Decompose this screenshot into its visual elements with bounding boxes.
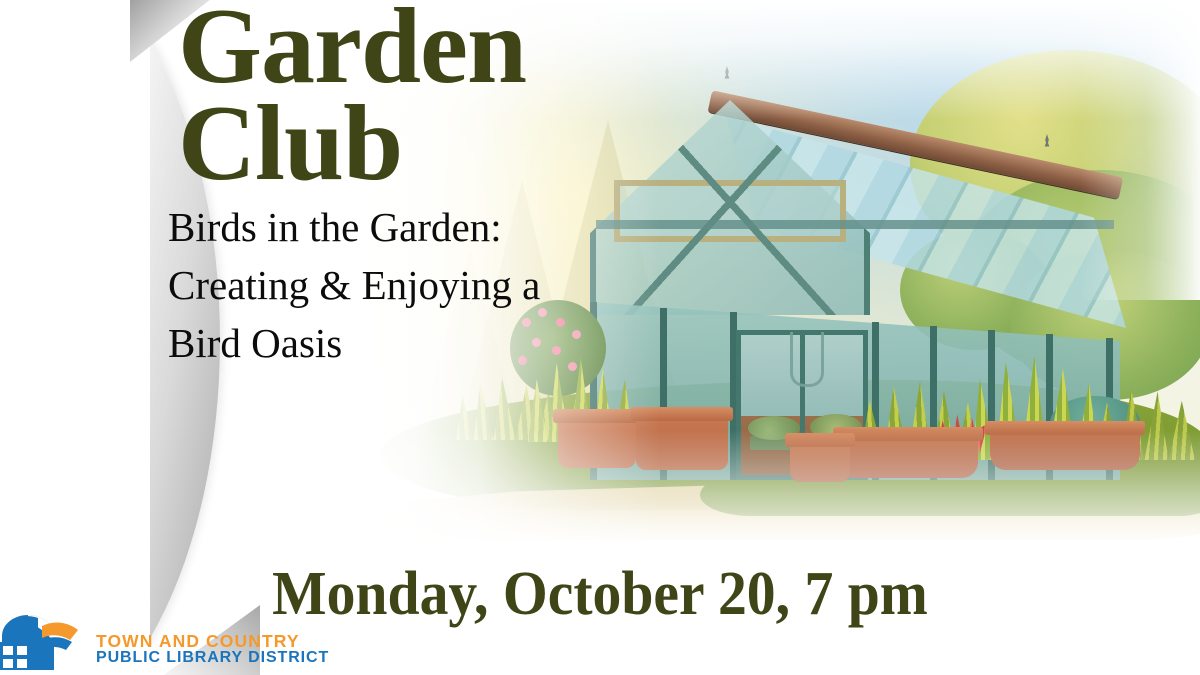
library-house-book-icon [0,612,94,672]
logo-line-1: TOWN AND COUNTRY [96,632,329,650]
greenhouse-shelf [596,220,1114,229]
subtitle-line-1: Birds in the Garden: [168,198,638,256]
logo-line-2: PUBLIC LIBRARY DISTRICT [96,650,329,667]
illustration-right-fade [1080,0,1200,300]
subtitle-line-3: Bird Oasis [168,314,638,372]
event-flyer: Garden Club Birds in the Garden: Creatin… [0,0,1200,675]
illustration-bottom-fade [360,430,1200,580]
page-title: Garden Club [178,0,526,195]
roof-finial-icon [1042,134,1052,160]
title-line-2: Club [178,93,526,196]
event-subtitle: Birds in the Garden: Creating & Enjoying… [168,198,638,373]
hanging-hose-icon [790,332,824,387]
logo-wordmark: TOWN AND COUNTRY PUBLIC LIBRARY DISTRICT [96,632,329,672]
subtitle-line-2: Creating & Enjoying a [168,256,638,314]
library-logo[interactable]: TOWN AND COUNTRY PUBLIC LIBRARY DISTRICT [0,612,329,672]
